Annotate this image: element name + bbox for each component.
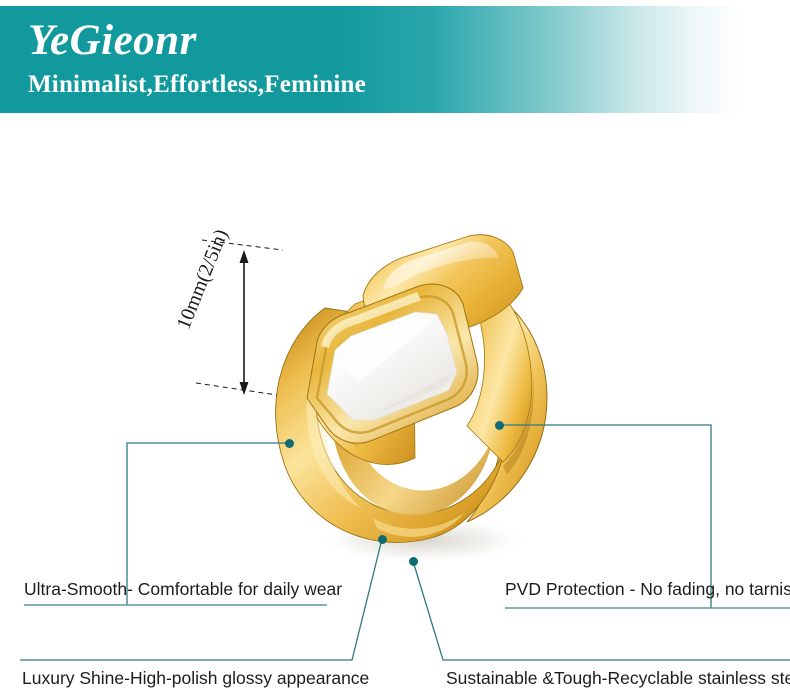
callout-dot-sustainable[interactable]: [409, 557, 418, 566]
caption-sustainable-tough: Sustainable &Tough-Recyclable stainless …: [446, 668, 790, 689]
callout-dot-ultra-smooth[interactable]: [285, 439, 294, 448]
caption-ultra-smooth: Ultra-Smooth- Comfortable for daily wear: [24, 579, 342, 600]
dimension-arrow-down: [240, 382, 249, 395]
dimension-label: 10mm(2/5in): [160, 196, 245, 362]
ring-image: [255, 222, 565, 567]
dimension-arrow-up: [240, 250, 249, 263]
brand-banner: YeGieonr Minimalist,Effortless,Feminine: [0, 6, 790, 113]
caption-pvd-protection: PVD Protection - No fading, no tarnish: [505, 579, 790, 600]
callout-dot-luxury-shine[interactable]: [378, 535, 387, 544]
brand-title: YeGieonr: [28, 16, 197, 66]
caption-luxury-shine: Luxury Shine-High-polish glossy appearan…: [22, 668, 369, 689]
product-infographic: YeGieonr Minimalist,Effortless,Feminine: [0, 0, 790, 695]
leader-line-sustainable: [413, 561, 790, 660]
brand-tagline: Minimalist,Effortless,Feminine: [28, 70, 366, 100]
callout-dot-pvd[interactable]: [495, 421, 504, 430]
